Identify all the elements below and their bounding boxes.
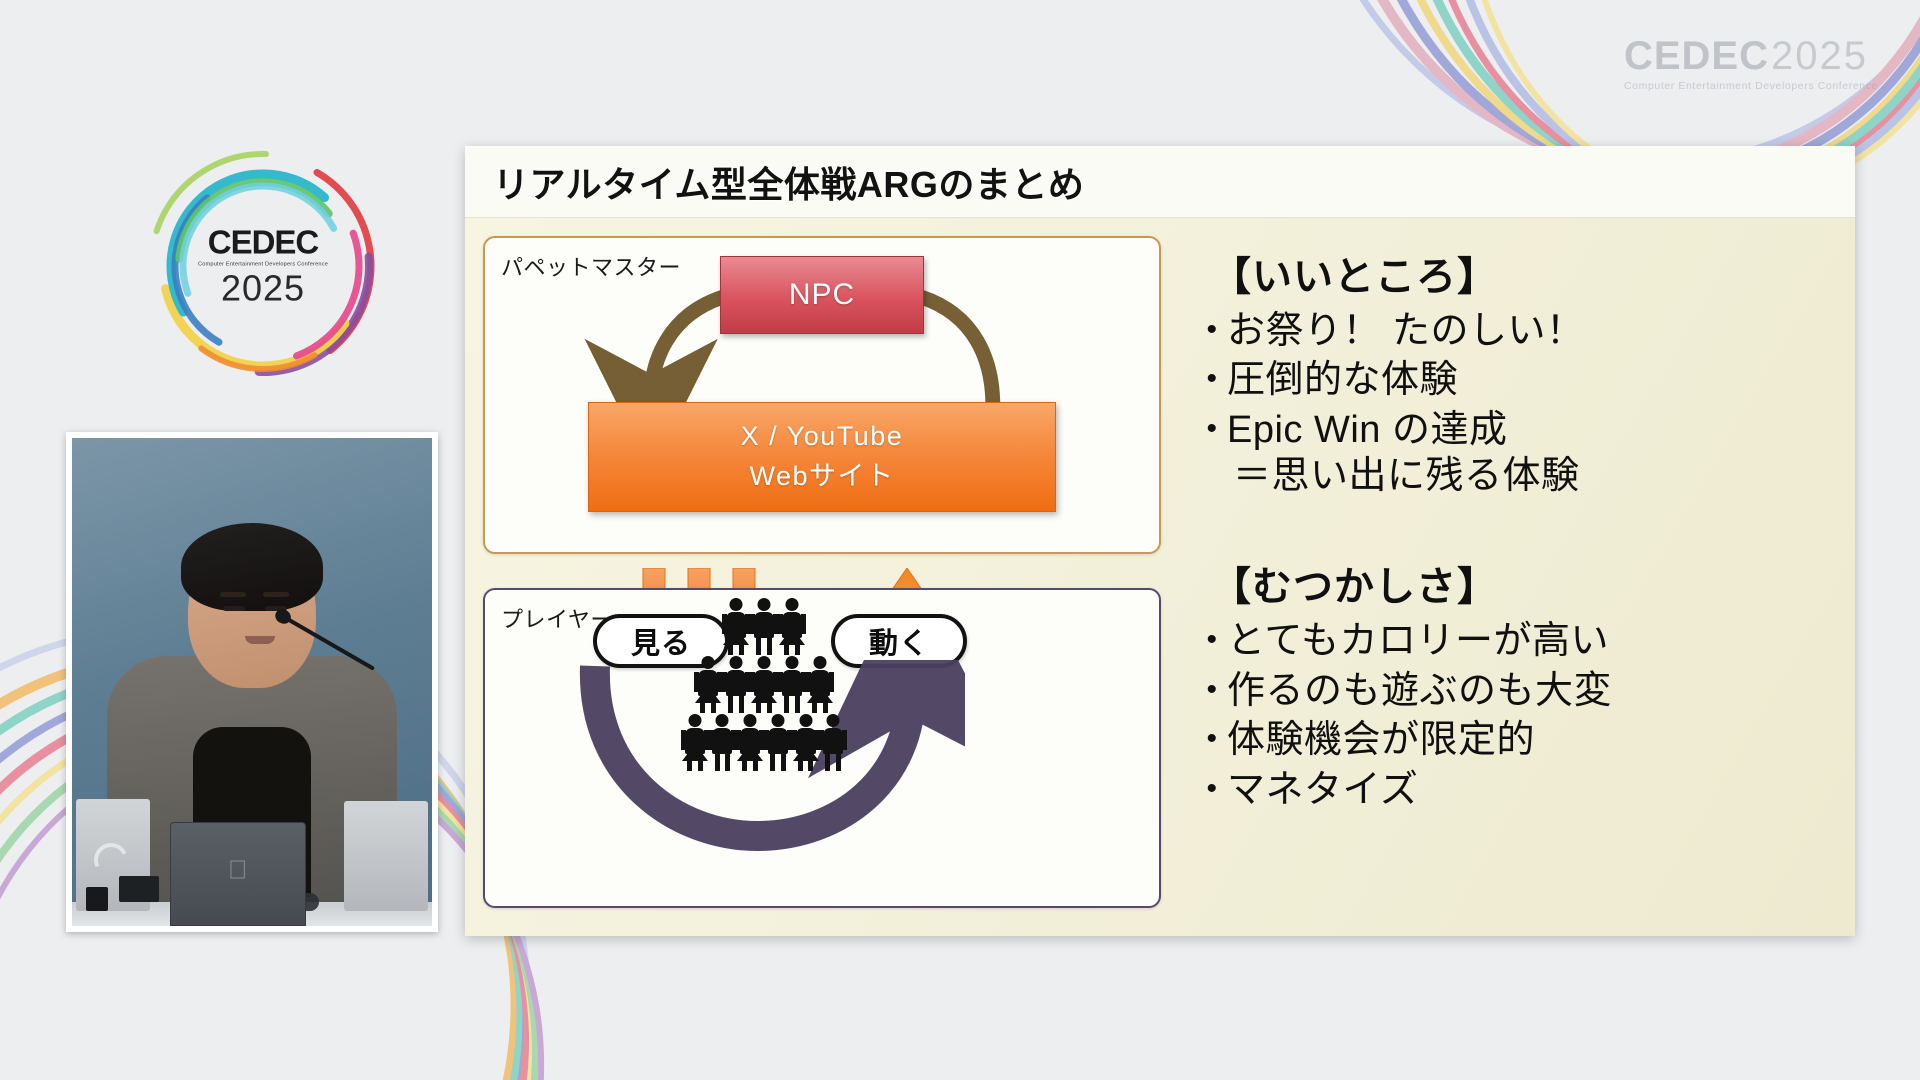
person-icon bbox=[778, 598, 806, 656]
speaker-eyebrow-right bbox=[263, 592, 289, 597]
cedec-circular-logo: CEDEC Computer Entertainment Developers … bbox=[145, 148, 381, 384]
list-item: • お祭り！ たのしい！ bbox=[1197, 308, 1829, 354]
person-icon bbox=[764, 714, 792, 772]
wordmark-cedec-text: CEDEC bbox=[1624, 36, 1769, 76]
person-icon bbox=[806, 656, 834, 714]
slide-title: リアルタイム型全体戦ARGのまとめ bbox=[493, 156, 1084, 208]
speaker-video-thumbnail:  bbox=[66, 432, 438, 932]
speaker-hair bbox=[181, 523, 323, 611]
arg-flow-diagram: パペットマスター NPC X / YouTube Webサイト bbox=[465, 218, 1177, 936]
wordmark-main: CEDEC 2025 bbox=[1624, 36, 1878, 76]
player-panel: プレイヤー 見る 動く bbox=[483, 588, 1161, 908]
puppetmaster-panel: パペットマスター NPC X / YouTube Webサイト bbox=[483, 236, 1161, 554]
person-icon bbox=[722, 656, 750, 714]
person-icon bbox=[750, 598, 778, 656]
person-icon bbox=[681, 714, 709, 772]
list-item-text-group: Epic Win の達成 ＝思い出に残る体験 bbox=[1227, 407, 1829, 500]
speaker-video-frame:  bbox=[72, 438, 432, 926]
good-points-list: • お祭り！ たのしい！ • 圧倒的な体験 • Epic Win の達成 ＝思い… bbox=[1197, 308, 1829, 499]
bullet-marker: • bbox=[1197, 407, 1227, 451]
player-crowd-icons bbox=[681, 598, 847, 772]
list-item-text: Epic Win の達成 bbox=[1227, 409, 1507, 451]
cedec-wordmark-watermark: CEDEC 2025 Computer Entertainment Develo… bbox=[1624, 36, 1878, 92]
speaker-eye-left bbox=[223, 606, 245, 611]
list-item-text: 圧倒的な体験 bbox=[1227, 357, 1829, 403]
pill-move-label: 動く bbox=[869, 620, 929, 662]
list-item: • Epic Win の達成 ＝思い出に残る体験 bbox=[1197, 407, 1829, 500]
npc-box: NPC bbox=[720, 256, 924, 334]
wordmark-subtitle-text: Computer Entertainment Developers Confer… bbox=[1624, 80, 1878, 92]
logo-center-text: CEDEC Computer Entertainment Developers … bbox=[193, 226, 333, 307]
good-points-heading: 【いいところ】 bbox=[1197, 244, 1829, 302]
laptop-right bbox=[344, 801, 428, 911]
presentation-slide: リアルタイム型全体戦ARGのまとめ パペットマスター NPC bbox=[465, 146, 1855, 936]
speaker-eyebrow-left bbox=[220, 592, 246, 597]
wordmark-year-text: 2025 bbox=[1771, 36, 1868, 76]
laptop-center:  bbox=[170, 822, 306, 926]
list-item: • とてもカロリーが高い bbox=[1197, 618, 1829, 664]
list-item-text: マネタイズ bbox=[1227, 767, 1829, 813]
person-icon bbox=[792, 714, 820, 772]
person-icon bbox=[709, 714, 737, 772]
bullet-marker: • bbox=[1197, 618, 1227, 662]
bullet-marker: • bbox=[1197, 668, 1227, 712]
person-icon bbox=[778, 656, 806, 714]
list-item-subtext: ＝思い出に残る体験 bbox=[1227, 453, 1829, 499]
desk-power-adapter bbox=[86, 887, 108, 911]
list-item: • 体験機会が限定的 bbox=[1197, 717, 1829, 763]
difficulties-list: • とてもカロリーが高い • 作るのも遊ぶのも大変 • 体験機会が限定的 • マ… bbox=[1197, 618, 1829, 812]
list-item-text: お祭り！ たのしい！ bbox=[1227, 308, 1829, 354]
crowd-row bbox=[681, 656, 847, 714]
apple-logo-icon:  bbox=[228, 854, 248, 885]
difficulties-heading: 【むつかしさ】 bbox=[1197, 554, 1829, 612]
speaker-mouth bbox=[245, 636, 275, 644]
bullet-marker: • bbox=[1197, 767, 1227, 811]
logo-year-text: 2025 bbox=[193, 271, 333, 307]
list-item: • 作るのも遊ぶのも大変 bbox=[1197, 668, 1829, 714]
logo-cedec-text: CEDEC bbox=[193, 226, 333, 259]
desk-device-box bbox=[119, 876, 159, 902]
web-platform-line2: Webサイト bbox=[749, 454, 894, 493]
person-icon bbox=[722, 598, 750, 656]
puppetmaster-label: パペットマスター bbox=[501, 250, 681, 282]
bullet-marker: • bbox=[1197, 308, 1227, 352]
bullet-marker: • bbox=[1197, 717, 1227, 761]
slide-title-bar: リアルタイム型全体戦ARGのまとめ bbox=[465, 146, 1855, 218]
bullet-marker: • bbox=[1197, 357, 1227, 401]
person-icon bbox=[819, 714, 847, 772]
list-item-text: とてもカロリーが高い bbox=[1227, 618, 1829, 664]
difficulties-block: 【むつかしさ】 • とてもカロリーが高い • 作るのも遊ぶのも大変 • 体験機会… bbox=[1197, 554, 1829, 815]
list-item: • 圧倒的な体験 bbox=[1197, 357, 1829, 403]
list-item-text: 作るのも遊ぶのも大変 bbox=[1227, 668, 1829, 714]
list-item: • マネタイズ bbox=[1197, 767, 1829, 813]
person-icon bbox=[750, 656, 778, 714]
good-points-block: 【いいところ】 • お祭り！ たのしい！ • 圧倒的な体験 • Epic Win… bbox=[1197, 244, 1829, 502]
person-icon bbox=[736, 714, 764, 772]
crowd-row bbox=[681, 598, 847, 656]
summary-bullet-columns: 【いいところ】 • お祭り！ たのしい！ • 圧倒的な体験 • Epic Win… bbox=[1177, 218, 1855, 936]
slide-content: パペットマスター NPC X / YouTube Webサイト bbox=[465, 218, 1855, 936]
crowd-row bbox=[681, 714, 847, 772]
web-platform-box: X / YouTube Webサイト bbox=[588, 402, 1056, 512]
web-platform-line1: X / YouTube bbox=[741, 421, 904, 452]
list-item-text: 体験機会が限定的 bbox=[1227, 717, 1829, 763]
person-icon bbox=[694, 656, 722, 714]
npc-label: NPC bbox=[789, 278, 855, 312]
